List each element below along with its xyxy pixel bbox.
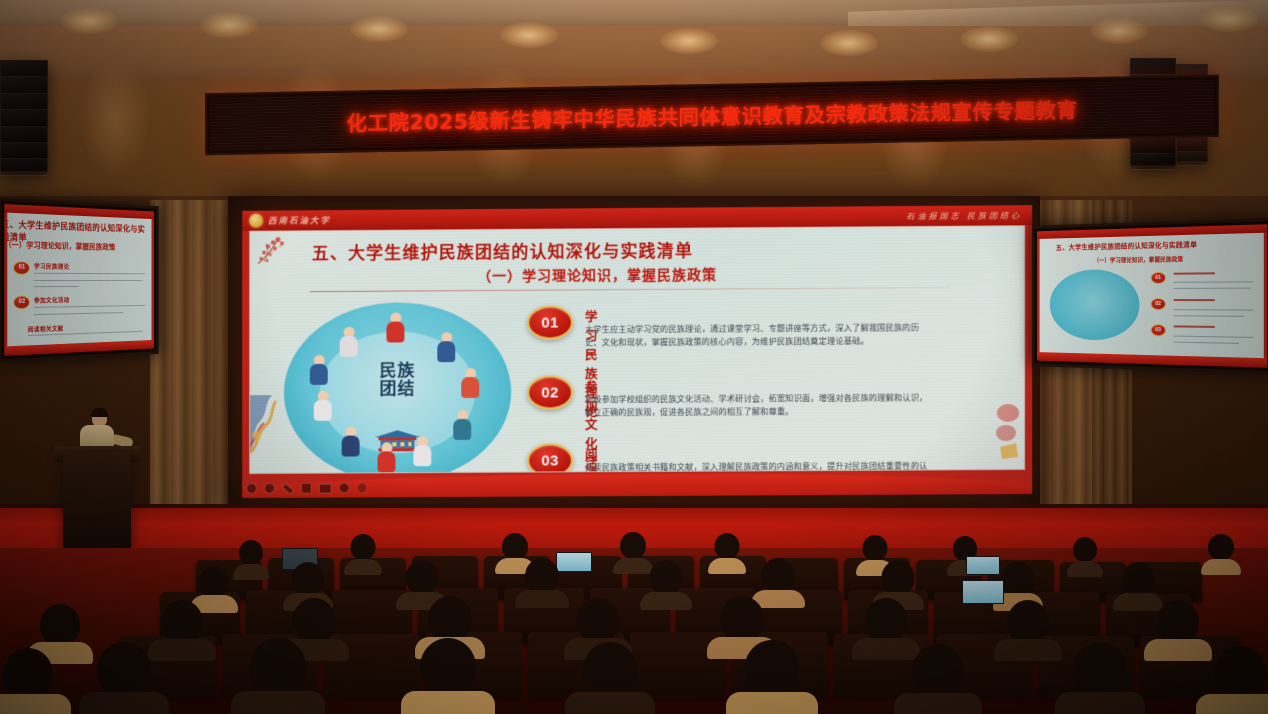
laptop <box>966 556 1000 575</box>
stage-curtain-left <box>150 200 232 530</box>
audience-member <box>1212 646 1268 714</box>
audience-member <box>744 640 800 714</box>
speaker-hair <box>91 408 108 417</box>
left-display-slide: 五、大学生维护民族团结的认知深化与实践清单 （一）学习理论知识，掌握民族政策 0… <box>4 204 154 356</box>
audience-member <box>348 534 378 570</box>
audience-member <box>648 560 684 605</box>
more-icon[interactable] <box>357 482 368 493</box>
audience-member <box>618 532 648 569</box>
ethnic-figure <box>376 442 398 472</box>
ceiling-downlight <box>1200 6 1258 32</box>
wall-light-glow <box>80 58 150 178</box>
ethnic-figure <box>451 410 473 440</box>
right-display-illustration <box>1050 269 1140 340</box>
left-display-subtitle: （一）学习理论知识，掌握民族政策 <box>7 239 115 253</box>
item-body: 积极参加学校组织的民族文化活动、学术研讨会，拓宽知识面，增强对各民族的理解和认识… <box>585 391 934 420</box>
slide-footer-band <box>242 468 1032 498</box>
audience-member <box>160 600 204 656</box>
audience-member <box>1006 600 1050 656</box>
led-banner-text: 化工院2025级新生铸牢中华民族共同体意识教育及宗教政策法规宣传专题教育 <box>346 93 1077 136</box>
auditorium-scene: 化工院2025级新生铸牢中华民族共同体意识教育及宗教政策法规宣传专题教育 西南石… <box>0 0 1268 714</box>
right-display-subtitle: （一）学习理论知识，掌握民族政策 <box>1094 254 1184 264</box>
audience-member <box>1206 534 1236 570</box>
laptop <box>962 580 1004 604</box>
right-display-badge-1: 01 <box>1150 271 1165 283</box>
item-body: 大学生应主动学习党的民族理论，通过课堂学习、专题讲座等方式，深入了解我国民族的历… <box>585 321 934 350</box>
title-divider <box>310 287 950 292</box>
ethnic-figure <box>312 391 334 421</box>
audience-member <box>582 642 638 714</box>
slide-content-area: 五、大学生维护民族团结的认知深化与实践清单 （一）学习理论知识，掌握民族政策 民… <box>249 225 1025 474</box>
ethnic-unity-illustration: 民族 团结 <box>284 302 511 474</box>
left-display-heading-3: 阅读相关文献 <box>28 323 64 333</box>
left-display-heading-1: 学习民族理论 <box>34 261 69 271</box>
audience-member <box>420 638 476 714</box>
audience-member <box>712 533 742 569</box>
previous-slide-icon[interactable] <box>246 483 257 494</box>
pointer-icon[interactable] <box>301 483 312 494</box>
slide-title: 五、大学生维护民族团结的认知深化与实践清单 <box>312 237 693 265</box>
pen-icon[interactable] <box>281 482 294 494</box>
ethnic-figure <box>340 427 362 457</box>
right-display-body: 五、大学生维护民族团结的认知深化与实践清单 （一）学习理论知识，掌握民族政策 0… <box>1040 233 1264 358</box>
item-number-badge: 01 <box>527 305 573 339</box>
presentation-toolbar[interactable] <box>246 482 367 494</box>
audience-member <box>1120 562 1156 606</box>
illustration-calligraphy: 民族 团结 <box>380 364 416 400</box>
ceiling-downlight <box>350 16 408 42</box>
audience-member <box>236 540 266 574</box>
ethnic-figure <box>384 312 406 342</box>
ethnic-figure <box>338 327 360 357</box>
plum-blossom-decoration-icon <box>254 233 300 267</box>
ethnic-figure <box>411 436 433 466</box>
ceiling-downlight <box>960 26 1018 52</box>
ceiling-downlight <box>820 30 878 56</box>
left-display-badge-2: 02 <box>14 295 31 309</box>
ethnic-figure <box>459 368 481 398</box>
left-display-badge-1: 01 <box>14 261 31 275</box>
audience-member <box>864 598 908 655</box>
ceiling-downlight <box>500 22 558 48</box>
podium-lectern <box>63 452 131 548</box>
right-display-badge-2: 02 <box>1150 298 1165 310</box>
right-display-slide: 五、大学生维护民族团结的认知深化与实践清单 （一）学习理论知识，掌握民族政策 0… <box>1037 224 1267 367</box>
calligraphy-line-2: 团结 <box>380 381 416 399</box>
audience-member <box>0 648 56 714</box>
ethnic-figure <box>308 355 330 385</box>
ceiling-downlight <box>1090 18 1148 44</box>
wave-cloud-decoration-icon <box>250 395 302 453</box>
audience-member <box>1070 537 1100 571</box>
audience-member <box>96 642 152 714</box>
line-array-speaker-left <box>0 60 48 172</box>
left-display-heading-2: 参加文化活动 <box>34 295 69 305</box>
audience-member <box>910 644 966 714</box>
slide-view-icon[interactable] <box>319 483 332 493</box>
ceiling-downlight <box>200 12 258 38</box>
audience-member <box>524 558 560 604</box>
left-display-body: 五、大学生维护民族团结的认知深化与实践清单 （一）学习理论知识，掌握民族政策 0… <box>7 213 151 347</box>
main-projection-slide: 西南石油大学 石油报国志 民族团结心 五、大学生维护民族团结的认知深化与实践清单… <box>242 205 1032 498</box>
slide-subtitle: （一）学习理论知识，掌握民族政策 <box>477 264 717 286</box>
right-display-badge-3: 03 <box>1150 324 1165 336</box>
university-name: 西南石油大学 <box>268 214 331 226</box>
next-slide-icon[interactable] <box>264 483 275 494</box>
audience-member <box>1156 600 1200 656</box>
ceiling-downlight <box>60 8 118 34</box>
right-mirror-display: 五、大学生维护民族团结的认知深化与实践清单 （一）学习理论知识，掌握民族政策 0… <box>1032 218 1268 375</box>
left-mirror-display: 五、大学生维护民族团结的认知深化与实践清单 （一）学习理论知识，掌握民族政策 0… <box>0 197 159 362</box>
right-display-title: 五、大学生维护民族团结的认知深化与实践清单 <box>1056 239 1197 252</box>
ethnic-figure <box>435 332 457 362</box>
header-slogan: 石油报国志 民族团结心 <box>906 210 1022 222</box>
audience-member <box>760 558 796 604</box>
lantern-decoration-icon <box>982 397 1022 461</box>
audience-member <box>250 638 306 714</box>
ceiling-downlight <box>660 28 718 54</box>
university-logo-icon <box>249 214 263 228</box>
item-number-badge: 02 <box>527 375 573 409</box>
menu-icon[interactable] <box>339 482 350 493</box>
laptop <box>556 552 592 572</box>
audience-member <box>1072 642 1128 714</box>
